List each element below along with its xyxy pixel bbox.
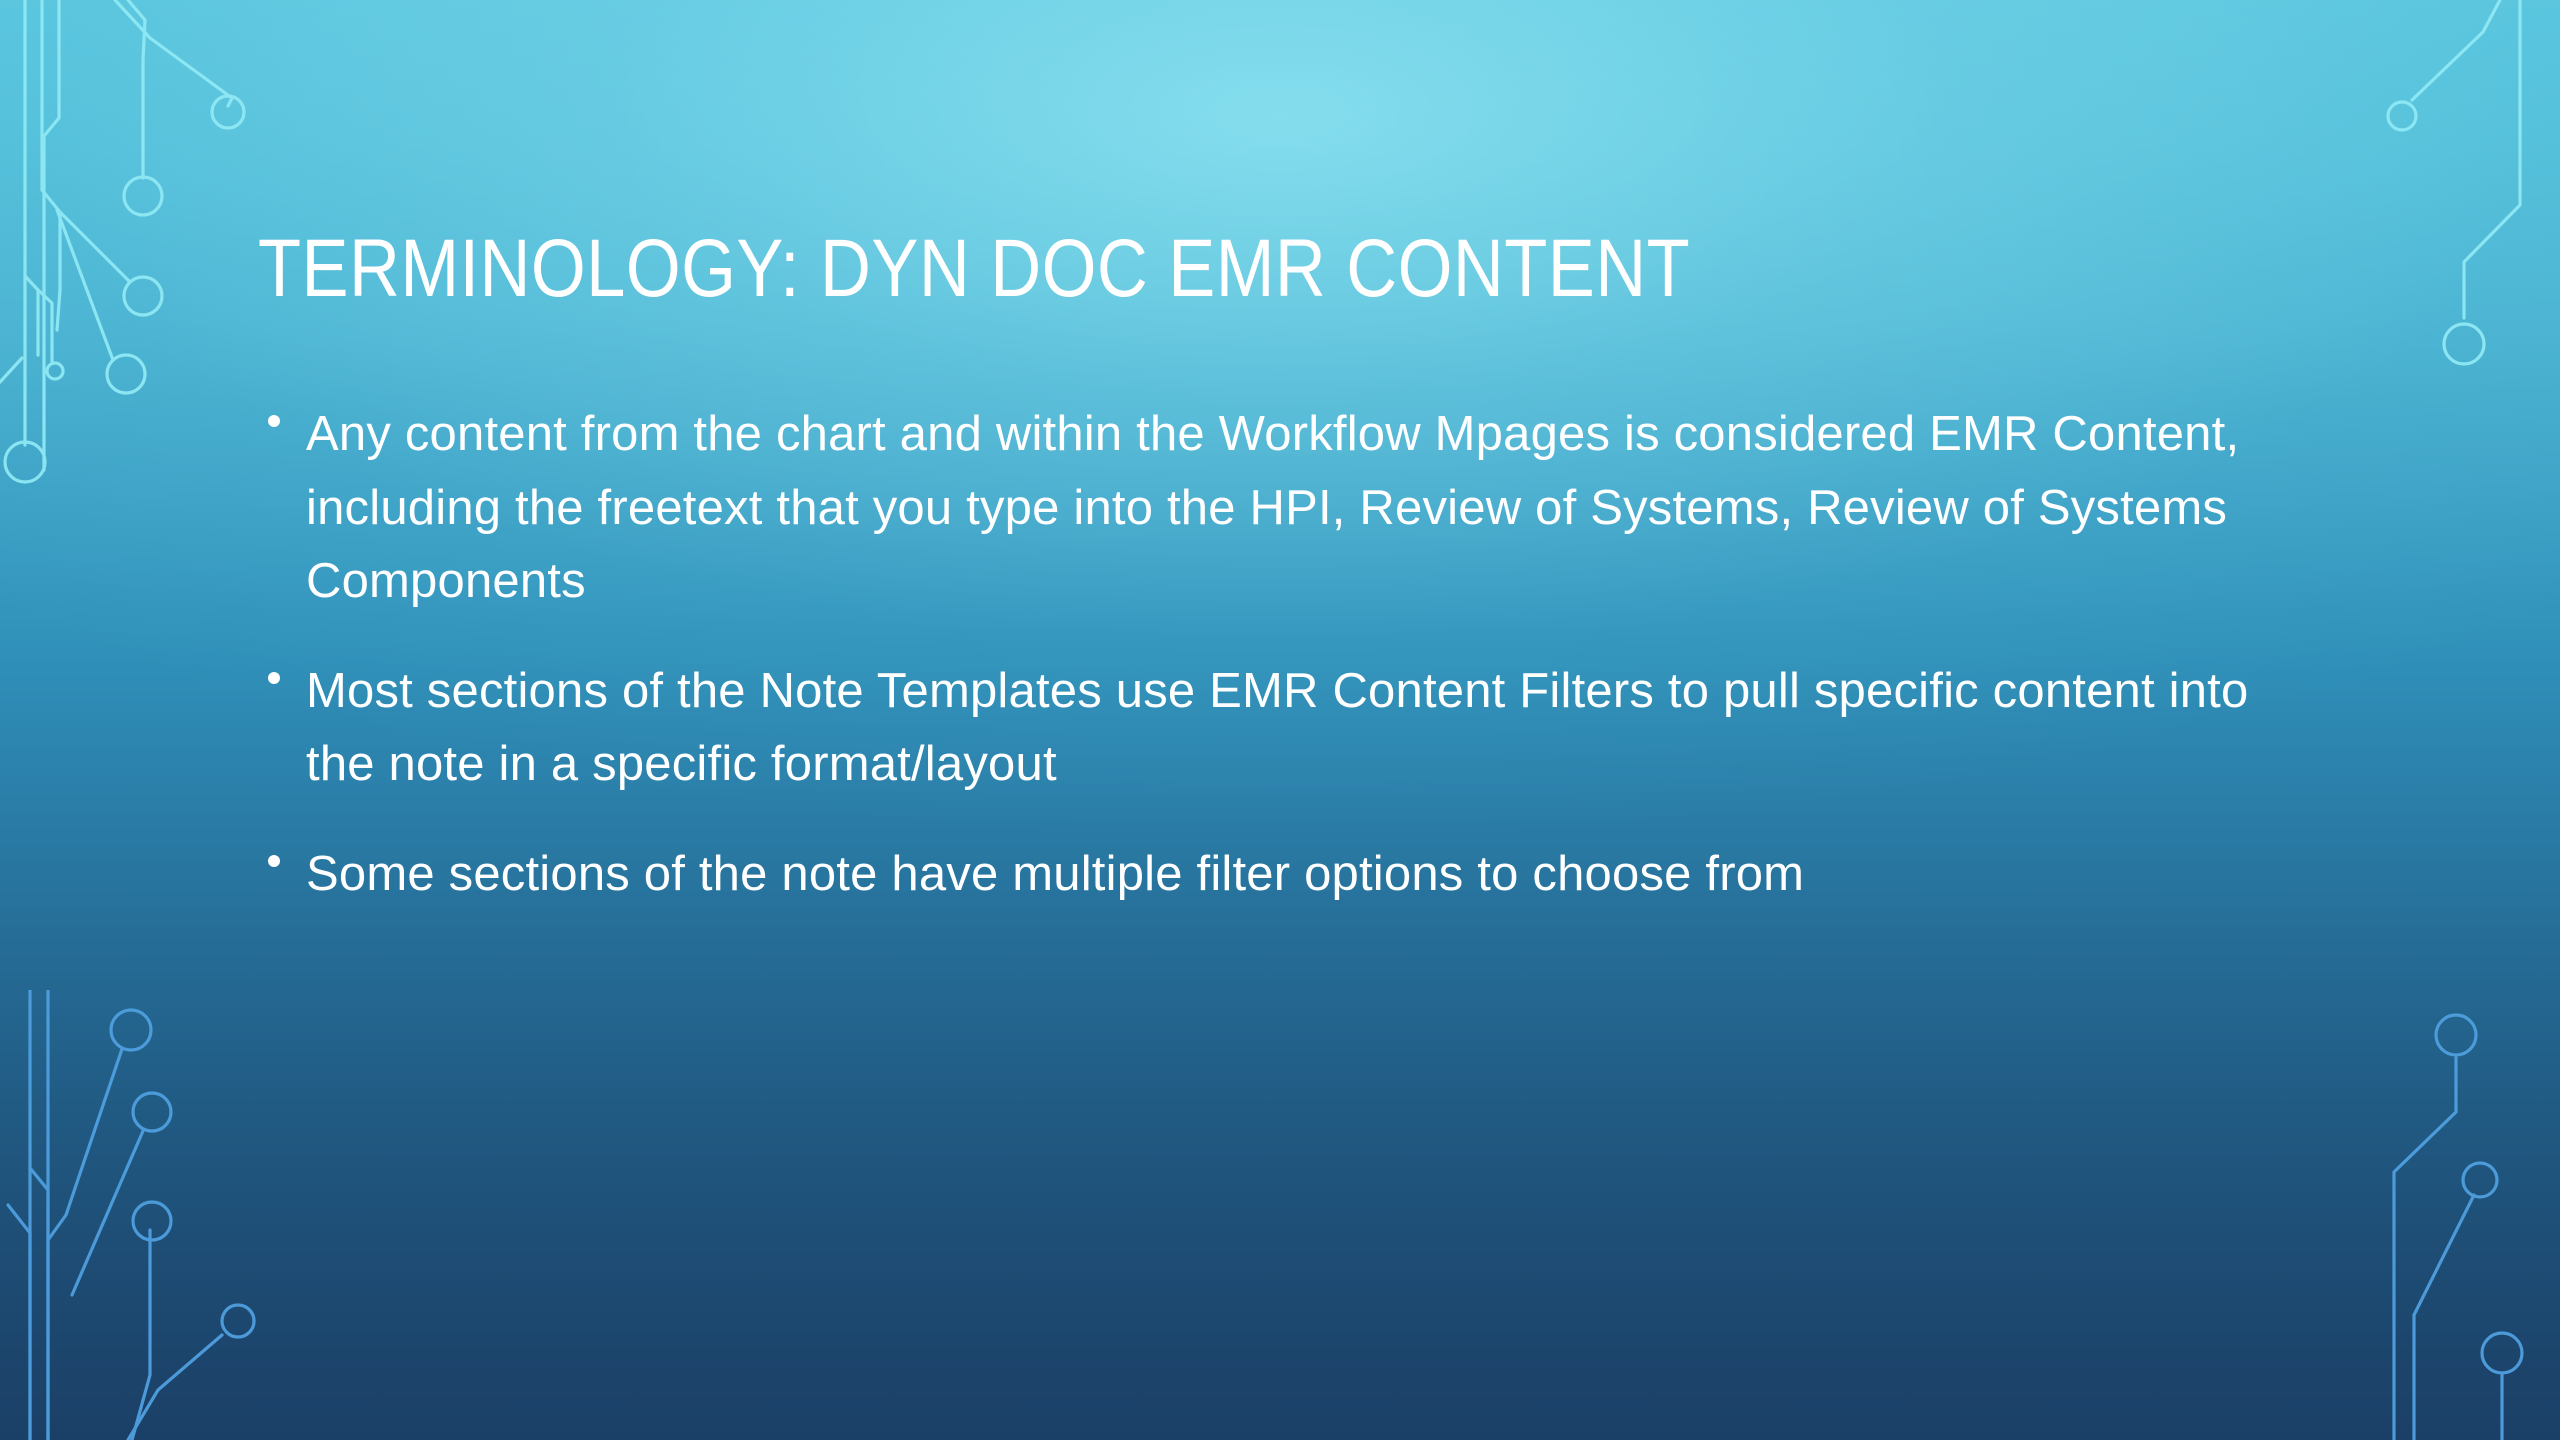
- bullet-dot-icon: [268, 415, 280, 427]
- list-item: Some sections of the note have multiple …: [258, 838, 2318, 912]
- list-item: Any content from the chart and within th…: [258, 398, 2318, 619]
- bullet-list: Any content from the chart and within th…: [258, 398, 2318, 947]
- list-item-label: Some sections of the note have multiple …: [306, 847, 1804, 901]
- list-item-label: Any content from the chart and within th…: [306, 407, 2239, 608]
- list-item-label: Most sections of the Note Templates use …: [306, 664, 2248, 792]
- presentation-slide: TERMINOLOGY: DYN DOC EMR CONTENT Any con…: [0, 0, 2560, 1440]
- bullet-dot-icon: [268, 672, 280, 684]
- bullet-dot-icon: [268, 855, 280, 867]
- page-title: TERMINOLOGY: DYN DOC EMR CONTENT: [258, 225, 1978, 314]
- slide-content: TERMINOLOGY: DYN DOC EMR CONTENT Any con…: [0, 0, 2560, 1440]
- list-item: Most sections of the Note Templates use …: [258, 655, 2318, 802]
